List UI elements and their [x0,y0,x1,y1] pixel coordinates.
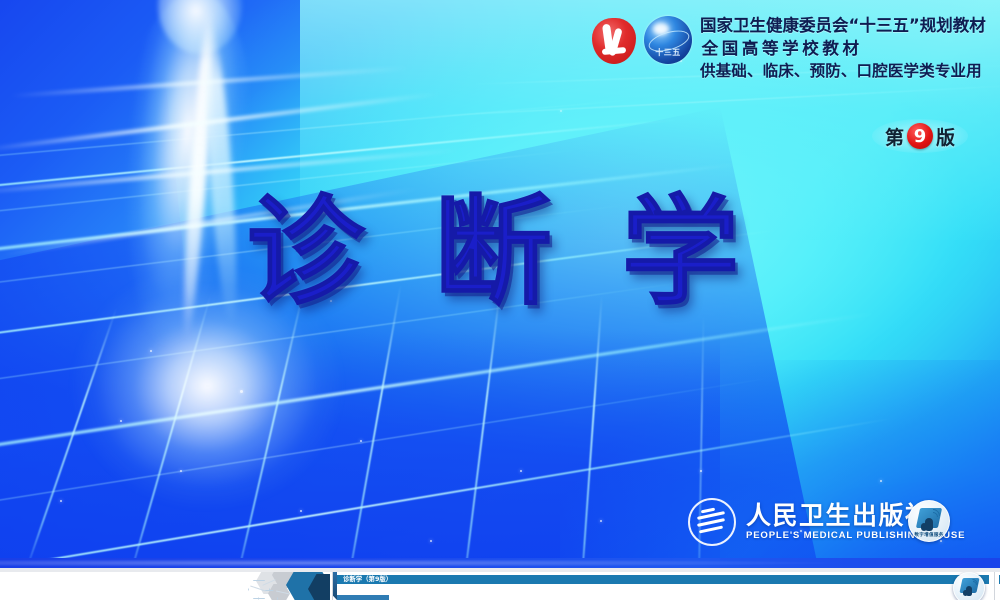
filmstrip-thumbnail-cover[interactable] [246,572,330,600]
digital-service-badge: 数字增值服务 [908,500,950,542]
edition-prefix: 第 [885,123,904,150]
presentation-slide: 十三五 国家卫生健康委员会“十三五”规划教材 全国高等学校教材 供基础、临床、预… [0,0,1000,600]
filmstrip-thumbnail-next[interactable] [994,572,1000,600]
header-text-lines: 国家卫生健康委员会“十三五”规划教材 全国高等学校教材 供基础、临床、预防、口腔… [700,14,996,82]
edition-number: 9 [907,123,933,149]
molecule-hexagon-artwork-icon [246,572,330,600]
header-line-2: 全国高等学校教材 [700,38,996,60]
header-line-3: 供基础、临床、预防、口腔医学类专业用 [700,61,996,82]
thumbnail-title-bar [337,575,989,584]
slide-filmstrip[interactable]: 诊断学（第9版） [0,558,1000,600]
edition-badge: 第 9 版 [872,119,968,153]
filmstrip-top-band [0,558,1000,568]
digital-badge-caption: 数字增值服务 [909,532,949,538]
header-line-1: 国家卫生健康委员会“十三五”规划教材 [700,15,996,37]
filmstrip-thumbnail-current[interactable]: 诊断学（第9版） [332,572,993,600]
header-block: 十三五 国家卫生健康委员会“十三五”规划教材 全国高等学校教材 供基础、临床、预… [592,14,996,94]
thumbnail-content-block [337,595,389,600]
thirteenth-five-year-globe-icon: 十三五 [644,16,692,64]
thumbnail-digital-badge [953,572,985,600]
slide-title: 诊 断 学 [0,193,1000,311]
thumbnail-title-text: 诊断学（第9版） [343,575,392,584]
globe-logo-label: 十三五 [644,47,692,58]
pmph-ren-logo-icon [592,18,636,64]
filmstrip-left-area [0,572,246,600]
edition-suffix: 版 [936,123,955,150]
pmph-book-mark-icon [688,498,736,546]
